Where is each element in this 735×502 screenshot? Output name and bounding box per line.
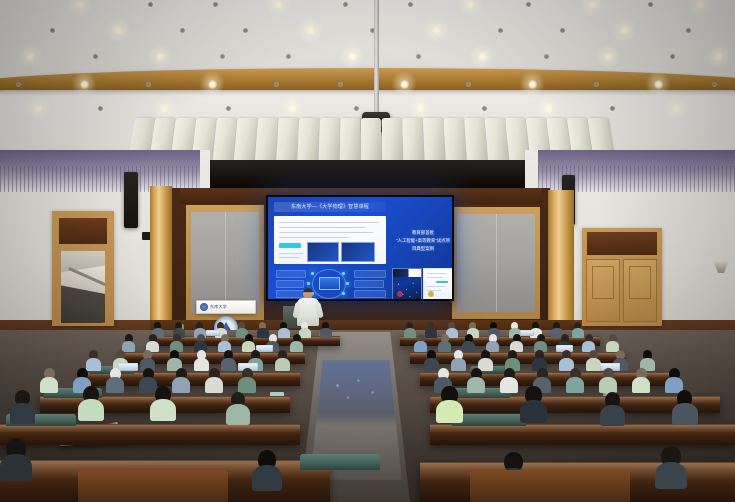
downlight-icon [243, 28, 248, 33]
laptop [118, 363, 138, 371]
right-door-leaf-left[interactable] [586, 259, 620, 322]
downlight-icon [93, 54, 98, 59]
downlight-glow [297, 17, 323, 43]
slide-title: 东南大学—《大学物理》智慧课程 [274, 202, 386, 212]
left-door-opening [61, 251, 105, 323]
thumbnail-top-strip [393, 269, 421, 277]
downlight-glow [705, 43, 731, 69]
person-shoulders [278, 328, 290, 338]
downlight-glow [423, 17, 449, 43]
slide-thumbnail-network-graph [392, 268, 422, 299]
person-shoulders [205, 377, 223, 393]
seat-wood-back [470, 470, 630, 502]
person-shoulders [425, 328, 437, 338]
slide-right-line-2: “人工智能+高等教育”试点项 [396, 238, 450, 243]
slide-card-chip-highlight [279, 243, 301, 248]
person-shoulders [586, 358, 601, 371]
downlight-icon [213, 2, 218, 7]
presenter [296, 288, 320, 326]
person-shoulders [86, 358, 101, 371]
person-shoulders [150, 399, 176, 421]
person-shoulders [290, 341, 303, 352]
downlight-glow [595, 43, 621, 69]
downlight-icon [180, 28, 185, 33]
person-shoulders [467, 377, 485, 393]
downlight-glow [391, 71, 417, 97]
downlight-icon [544, 54, 549, 59]
aisle-reflection-highlights [320, 372, 390, 406]
downlight-icon [408, 2, 413, 7]
downlight-icon [594, 82, 599, 87]
downlight-icon [610, 106, 615, 111]
person-shoulders [106, 377, 124, 393]
left-speaker-column [124, 172, 138, 228]
downlight-glow [611, 17, 637, 43]
person-shoulders [275, 358, 290, 371]
downlight-glow [71, 71, 97, 97]
downlight-icon [146, 82, 151, 87]
downlight-icon [560, 28, 565, 33]
downlight-icon [670, 54, 675, 59]
downlight-icon [354, 106, 359, 111]
slide-card-thumb-b [341, 242, 375, 262]
person-shoulders [414, 341, 427, 352]
downlight-icon [648, 2, 653, 7]
downlight-icon [16, 82, 21, 87]
person-shoulders [252, 465, 282, 491]
downlight-glow [199, 71, 225, 97]
person-shoulders [78, 399, 104, 421]
downlight-icon [274, 82, 279, 87]
downlight-icon [98, 106, 103, 111]
presentation-slide: 东南大学—《大学物理》智慧课程 教育部首批 “人工智能+高等教育”试点项 目典型… [268, 197, 452, 299]
downlight-glow [519, 71, 545, 97]
stage-column-left [150, 186, 172, 331]
downlight-icon [498, 28, 503, 33]
downlight-glow [105, 17, 131, 43]
downlight-icon [482, 106, 487, 111]
person-shoulders [520, 400, 547, 423]
downlight-icon [686, 28, 691, 33]
person-shoulders [566, 377, 584, 393]
downlight-icon [526, 2, 531, 7]
seat-back [452, 414, 526, 426]
downlight-icon [712, 82, 717, 87]
person-shoulders [122, 341, 135, 352]
slide-right-text-block: 教育部首批 “人工智能+高等教育”试点项 目典型案例 [396, 217, 450, 263]
seat-back [300, 454, 380, 470]
university-emblem-icon [200, 303, 208, 311]
seat-wood-back [78, 470, 228, 502]
downlight-glow [469, 43, 495, 69]
downlight-glow [17, 43, 43, 69]
person-shoulders [172, 377, 190, 393]
person-shoulders [226, 404, 250, 424]
downlight-icon [338, 82, 343, 87]
person-shoulders [0, 454, 32, 481]
downlight-glow [645, 71, 671, 97]
slide-card-thumb-a [307, 242, 339, 262]
left-door-transom [59, 218, 107, 244]
laptop [520, 330, 534, 336]
slide-right-line-3: 目典型案例 [412, 246, 434, 251]
person-shoulders [10, 403, 35, 424]
person-shoulders [462, 341, 475, 352]
person-shoulders [600, 405, 625, 426]
person-shoulders [194, 358, 209, 371]
stage-panel-left [191, 212, 259, 313]
stage-banner-text: 东南大学 [210, 304, 227, 310]
person-shoulders [500, 377, 518, 393]
person-shoulders [299, 328, 311, 338]
laptop [206, 330, 220, 336]
slide-right-line-1: 教育部首批 [412, 230, 434, 235]
desk-row [0, 424, 300, 445]
person-shoulders [320, 328, 332, 338]
right-door-leaf-right[interactable] [623, 259, 657, 322]
downlight-glow [663, 95, 689, 121]
person-shoulders [599, 377, 617, 393]
downlight-icon [416, 54, 421, 59]
desk-gloss [0, 425, 300, 433]
thumbnail-seal-icon [397, 291, 403, 297]
person-shoulders [404, 328, 416, 338]
downlight-icon [220, 54, 225, 59]
projector-pole [374, 0, 379, 118]
downlight-icon [286, 54, 291, 59]
downlight-icon [466, 82, 471, 87]
stage-column-right [548, 190, 574, 330]
desk-gloss [430, 425, 735, 433]
person-shoulders [257, 328, 269, 338]
stage-panel-right [457, 214, 535, 312]
left-door[interactable] [52, 211, 114, 326]
projection-screen[interactable]: 东南大学—《大学物理》智慧课程 教育部首批 “人工智能+高等教育”试点项 目典型… [266, 195, 454, 301]
person-shoulders [655, 462, 687, 489]
downlight-icon [148, 2, 153, 7]
stage-header-beam [160, 160, 580, 188]
person-shoulders [436, 400, 463, 423]
hub-core [319, 277, 340, 290]
document-seal-icon [428, 291, 434, 297]
slide-hub-diagram [274, 268, 386, 298]
stage-banner: 东南大学 [196, 300, 256, 314]
person-shoulders [238, 377, 256, 393]
person-shoulders [632, 377, 650, 393]
right-door-transom [587, 232, 657, 255]
downlight-icon [343, 2, 348, 7]
person-shoulders [424, 358, 439, 371]
downlight-glow [25, 95, 51, 121]
slide-content-card [274, 216, 386, 264]
person-shoulders [438, 341, 451, 352]
person-shoulders [40, 377, 58, 393]
person-shoulders [451, 358, 466, 371]
downlight-icon [226, 106, 231, 111]
desk-row [430, 424, 735, 445]
downlight-glow [339, 43, 365, 69]
downlight-icon [50, 28, 55, 33]
slide-thumbnail-document [423, 268, 452, 299]
soffit-wood-trim [0, 68, 735, 90]
right-door[interactable] [582, 228, 662, 326]
downlight-glow [147, 43, 173, 69]
person-shoulders [572, 328, 584, 338]
lecture-hall-photo: 东南大学—《大学物理》智慧课程 教育部首批 “人工智能+高等教育”试点项 目典型… [0, 0, 735, 502]
person-shoulders [672, 403, 698, 425]
person-shoulders [221, 358, 236, 371]
